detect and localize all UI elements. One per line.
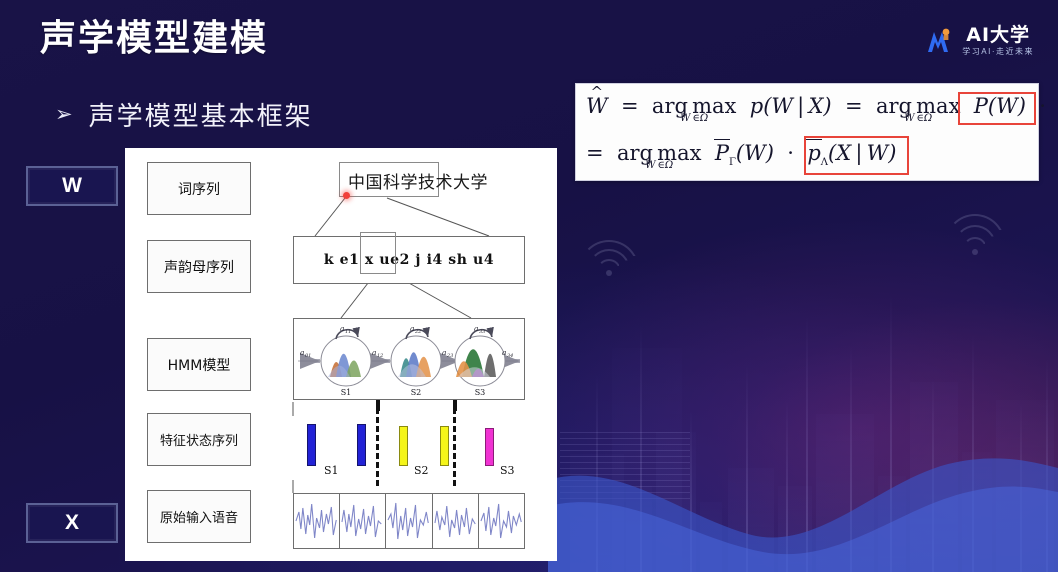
audio-wave-decoration-icon: [548, 422, 1058, 572]
svg-text:S2: S2: [411, 388, 422, 397]
slide-canvas: 声学模型建模 ➢ 声学模型基本框架 AI大学 学习AI·走近未来 W X 词序列…: [0, 0, 1058, 572]
formula-argmax-subscript: W ∈Ω: [645, 160, 673, 171]
svg-text:a: a: [474, 324, 478, 333]
logo: AI大学 学习AI·走近未来: [925, 26, 1034, 56]
highlight-box-acoustic-term-2: [804, 136, 909, 175]
state-bar: [485, 428, 494, 466]
arrow-bullet-icon: ➢: [55, 104, 73, 125]
phoneme-highlight-box: [360, 232, 396, 274]
formula-equals-2: =: [838, 94, 869, 118]
waveform-frame: [432, 493, 478, 549]
state-bar: [399, 426, 408, 466]
subtitle-row: ➢ 声学模型基本框架: [55, 96, 313, 133]
state-sequence-row: S1 S2 S3: [293, 416, 525, 480]
stage-label-w: W: [26, 166, 118, 206]
scanline-texture: [560, 432, 690, 502]
hmm-diagram-box: a01 a11 a12 a22 a23 a33 a34 S1 S2 S3: [293, 318, 525, 400]
ai-university-logo-icon: [925, 26, 955, 56]
city-skyline-icon: [560, 272, 1058, 572]
stage-label-x: X: [26, 503, 118, 543]
state-bar-label-s1: S1: [324, 464, 339, 477]
formula-equals: =: [614, 94, 645, 118]
svg-text:23: 23: [446, 353, 453, 359]
pipeline-box-hmm-model: HMM模型: [147, 338, 251, 391]
red-dot-marker-icon: [343, 192, 350, 199]
formula-term-lm: PΓ(W): [708, 141, 774, 165]
waveform-frame: [339, 493, 385, 549]
svg-text:33: 33: [479, 329, 485, 335]
formula-argmax-3: arg maxW ∈Ω: [617, 141, 701, 165]
svg-text:a: a: [502, 348, 506, 357]
wifi-signal-icon: [578, 238, 640, 276]
formula-term-posterior: p(W | X): [743, 94, 832, 118]
svg-text:12: 12: [377, 353, 383, 359]
svg-text:a: a: [340, 324, 344, 333]
waveform-row: [293, 493, 525, 549]
formula-panel: W = arg maxW ∈Ω p(W | X) = arg maxW ∈Ω P…: [575, 83, 1039, 181]
wifi-signal-icon: [938, 212, 1012, 256]
logo-title: AI大学: [966, 26, 1030, 45]
diagram-panel: 词序列 声韵母序列 HMM模型 特征状态序列 原始输入语音 中国科学技术大学: [125, 148, 557, 561]
pipeline-box-word-sequence: 词序列: [147, 162, 251, 215]
segment-boundary: [453, 408, 456, 486]
svg-text:a: a: [410, 324, 414, 333]
formula-dot-2: ·: [781, 141, 801, 165]
pipeline-box-state-sequence: 特征状态序列: [147, 413, 251, 466]
svg-text:22: 22: [414, 329, 421, 335]
state-bar: [440, 426, 449, 466]
formula-equals-3: =: [586, 141, 610, 165]
segment-boundary: [376, 408, 379, 486]
formula-lhs: W: [586, 94, 608, 118]
waveform-frame: [478, 493, 525, 549]
highlight-box-acoustic-term-1: [958, 92, 1036, 125]
state-bar-label-s3: S3: [500, 464, 515, 477]
svg-text:S1: S1: [341, 388, 352, 397]
section-subtitle: 声学模型基本框架: [89, 96, 313, 133]
phoneme-sequence-text: k e1 x ue2 j i4 sh u4: [324, 252, 494, 268]
phoneme-sequence-box: k e1 x ue2 j i4 sh u4: [293, 236, 525, 284]
state-bar-label-s2: S2: [414, 464, 429, 477]
waveform-frame: [293, 493, 339, 549]
svg-text:34: 34: [507, 353, 513, 359]
svg-text:11: 11: [345, 329, 351, 335]
svg-text:a: a: [442, 348, 446, 357]
svg-text:S3: S3: [475, 388, 486, 397]
pipeline-box-input-speech: 原始输入语音: [147, 490, 251, 543]
pipeline-box-phoneme-sequence: 声韵母序列: [147, 240, 251, 293]
svg-text:a: a: [372, 348, 376, 357]
pipeline-diagram: 中国科学技术大学 k e1 x ue2 j i4 sh u4: [275, 148, 557, 561]
formula-argmax-subscript: W ∈Ω: [904, 113, 932, 124]
logo-tagline: 学习AI·走近未来: [962, 48, 1034, 56]
formula-argmax-2: arg maxW ∈Ω: [876, 94, 960, 118]
formula-argmax-1: arg maxW ∈Ω: [652, 94, 736, 118]
formula-argmax-subscript: W ∈Ω: [680, 113, 708, 124]
state-bar: [307, 424, 316, 466]
state-bar: [357, 424, 366, 466]
page-title: 声学模型建模: [40, 9, 268, 61]
svg-text:a: a: [300, 348, 304, 357]
svg-text:01: 01: [305, 353, 311, 359]
word-sequence-text: 中国科学技术大学: [323, 168, 513, 193]
waveform-frame: [385, 493, 431, 549]
